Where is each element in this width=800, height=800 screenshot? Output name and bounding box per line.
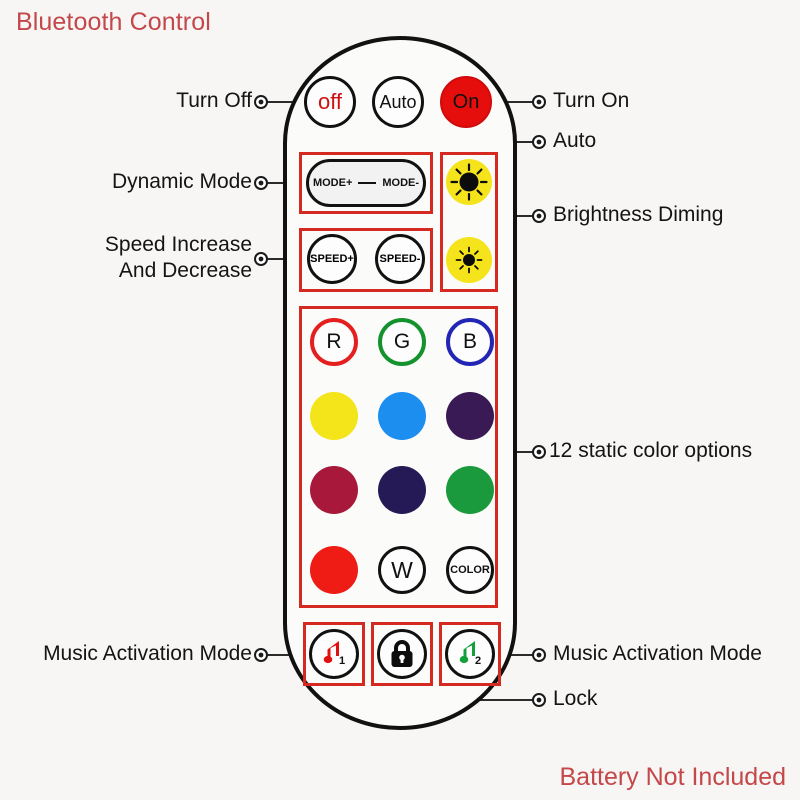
mode-minus-label[interactable]: MODE- xyxy=(382,177,419,189)
svg-text:2: 2 xyxy=(475,655,481,667)
callout-auto: Auto xyxy=(553,128,596,154)
color-button-bright-red[interactable] xyxy=(310,546,358,594)
color-button-color[interactable]: COLOR xyxy=(446,546,494,594)
marker-music-left xyxy=(255,649,267,661)
color-button-green-ring[interactable]: G xyxy=(378,318,426,366)
speed-plus-button[interactable]: SPEED+ xyxy=(307,234,357,284)
mode-divider-icon xyxy=(358,182,376,184)
marker-speed xyxy=(255,253,267,265)
music-mode-2-button[interactable]: 2 xyxy=(445,629,495,679)
color-button-crimson[interactable] xyxy=(310,466,358,514)
color-button-label: COLOR xyxy=(450,564,490,576)
callout-lock: Lock xyxy=(553,686,597,712)
footer-note: Battery Not Included xyxy=(559,763,786,792)
callout-turn-off: Turn Off xyxy=(0,88,252,114)
sun-bright-icon xyxy=(446,159,492,205)
music-note-2-icon: 2 xyxy=(453,637,487,671)
marker-static-colors xyxy=(533,446,545,458)
brightness-up-button[interactable] xyxy=(446,159,492,205)
lock-icon xyxy=(387,638,417,670)
brightness-down-button[interactable] xyxy=(446,237,492,283)
mode-pill[interactable]: MODE+ MODE- xyxy=(306,159,426,207)
music-note-1-icon: 1 xyxy=(317,637,351,671)
color-button-dark-purple[interactable] xyxy=(446,392,494,440)
color-button-label: R xyxy=(326,330,341,354)
marker-auto xyxy=(533,136,545,148)
svg-text:1: 1 xyxy=(339,655,345,667)
color-button-azure[interactable] xyxy=(378,392,426,440)
callout-speed: Speed Increase And Decrease xyxy=(0,232,252,283)
music-mode-1-button[interactable]: 1 xyxy=(309,629,359,679)
color-button-navy-indigo[interactable] xyxy=(378,466,426,514)
marker-music-right xyxy=(533,649,545,661)
marker-turn-off xyxy=(255,96,267,108)
color-button-white[interactable]: W xyxy=(378,546,426,594)
callout-music-right: Music Activation Mode xyxy=(553,641,762,667)
lock-button[interactable] xyxy=(377,629,427,679)
color-button-green[interactable] xyxy=(446,466,494,514)
marker-brightness xyxy=(533,210,545,222)
color-button-label: W xyxy=(391,557,413,584)
color-button-label: B xyxy=(463,330,477,354)
callout-brightness: Brightness Diming xyxy=(553,202,723,228)
marker-lock xyxy=(533,694,545,706)
callout-static-colors: 12 static color options xyxy=(549,438,752,464)
color-button-label: G xyxy=(394,330,410,354)
speed-minus-button[interactable]: SPEED- xyxy=(375,234,425,284)
callout-dynamic-mode: Dynamic Mode xyxy=(0,169,252,195)
sun-dim-icon xyxy=(446,237,492,283)
power-off-button[interactable]: off xyxy=(304,76,356,128)
mode-plus-label[interactable]: MODE+ xyxy=(313,177,352,189)
callout-music-left: Music Activation Mode xyxy=(0,641,252,667)
marker-dynamic-mode xyxy=(255,177,267,189)
color-button-blue-ring[interactable]: B xyxy=(446,318,494,366)
power-on-button[interactable]: On xyxy=(440,76,492,128)
callout-turn-on: Turn On xyxy=(553,88,629,114)
color-button-red-ring[interactable]: R xyxy=(310,318,358,366)
auto-button[interactable]: Auto xyxy=(372,76,424,128)
diagram-canvas: Bluetooth Control Battery Not Included o… xyxy=(0,0,800,800)
color-button-yellow[interactable] xyxy=(310,392,358,440)
page-title: Bluetooth Control xyxy=(16,8,211,37)
marker-turn-on xyxy=(533,96,545,108)
